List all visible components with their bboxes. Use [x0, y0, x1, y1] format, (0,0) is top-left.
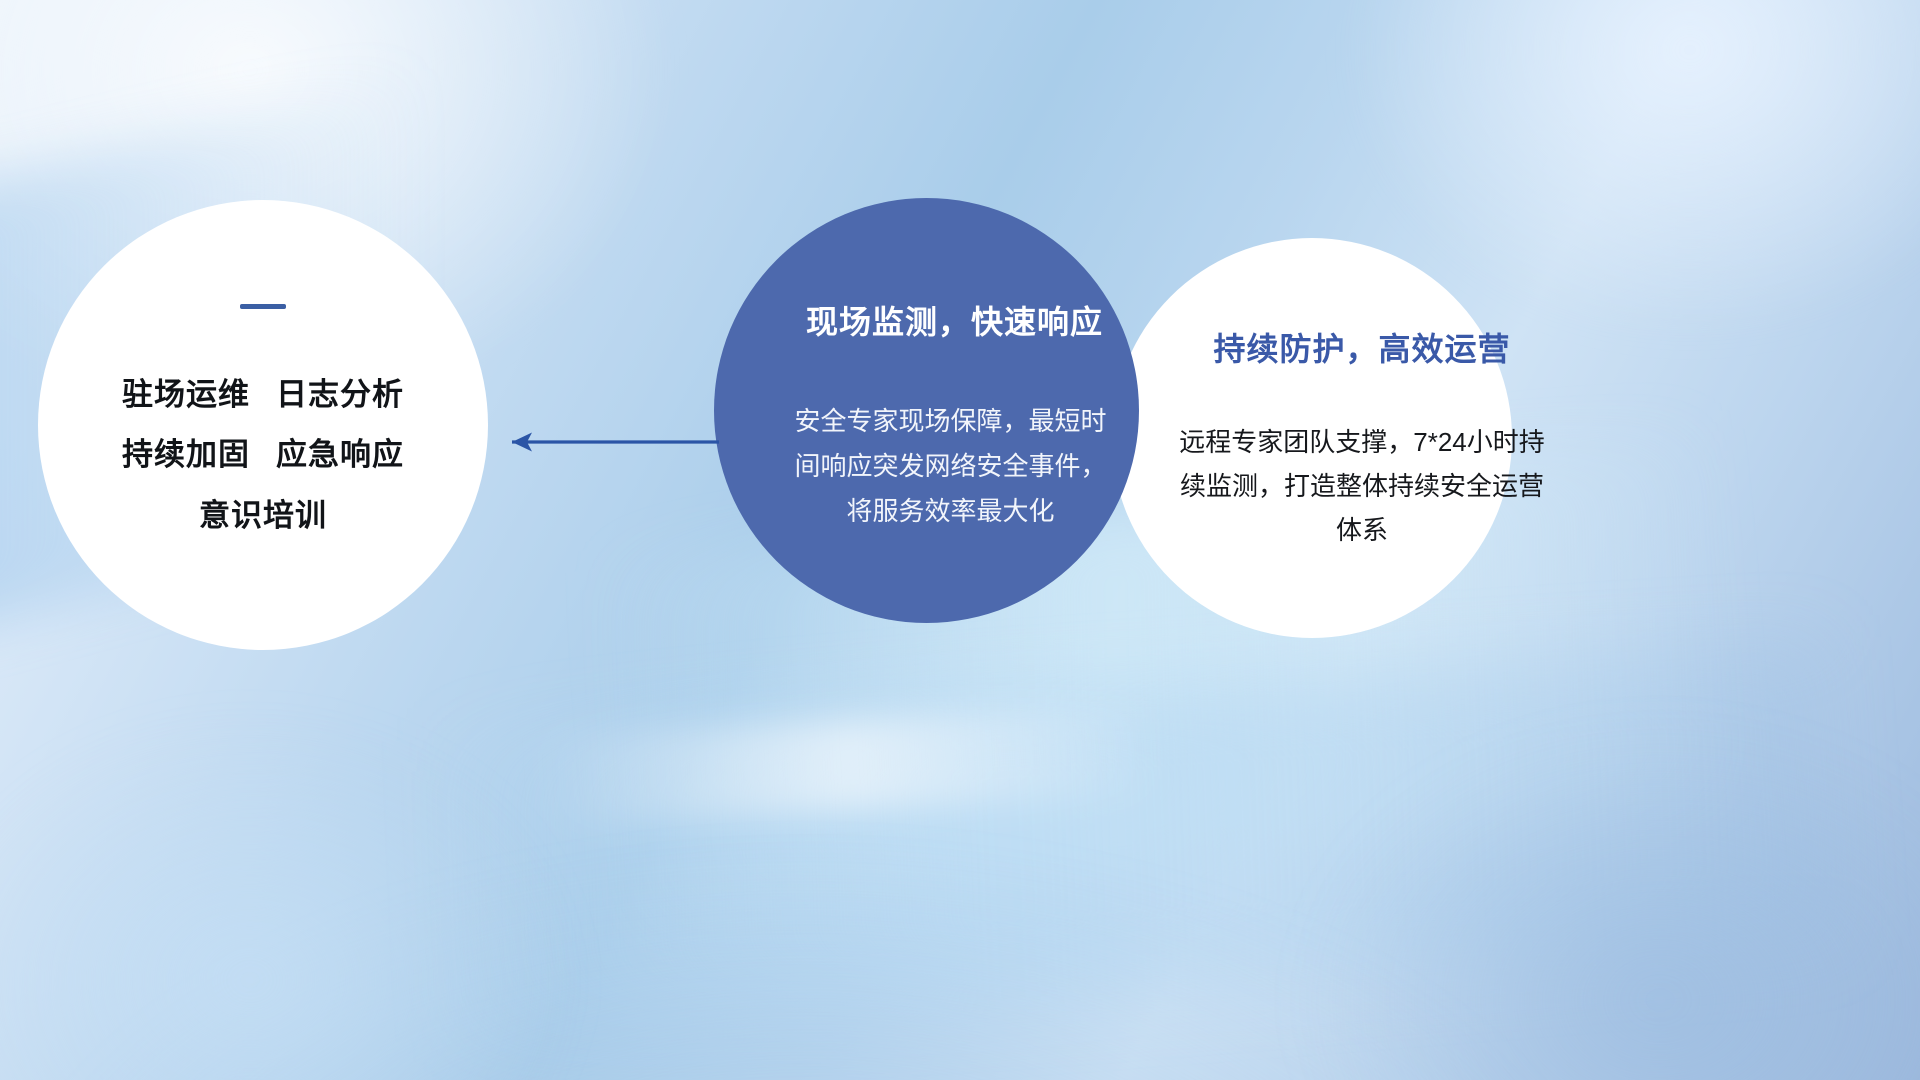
- service-keyword-row: 意识培训: [122, 486, 404, 546]
- continuous-protection-circle[interactable]: 持续防护，高效运营 远程专家团队支撑，7*24小时持续监测，打造整体持续安全运营…: [1112, 238, 1512, 638]
- driven-services-circle[interactable]: 驻场运维日志分析 持续加固应急响应 意识培训: [38, 200, 488, 650]
- service-keyword: 持续加固: [122, 437, 250, 472]
- onsite-monitoring-circle[interactable]: 现场监测，快速响应 安全专家现场保障，最短时间响应突发网络安全事件，将服务效率最…: [714, 198, 1139, 623]
- service-keyword: 意识培训: [199, 498, 327, 533]
- continuous-protection-body: 远程专家团队支撑，7*24小时持续监测，打造整体持续安全运营体系: [1176, 420, 1548, 553]
- service-keyword: 日志分析: [276, 377, 404, 412]
- service-keyword-row: 驻场运维日志分析: [122, 365, 404, 425]
- service-keyword: 应急响应: [276, 437, 404, 472]
- onsite-monitoring-body: 安全专家现场保障，最短时间响应突发网络安全事件，将服务效率最大化: [792, 399, 1110, 533]
- onsite-monitoring-title: 现场监测，快速响应: [806, 297, 1103, 343]
- continuous-protection-title: 持续防护，高效运营: [1213, 324, 1510, 370]
- service-keyword-row: 持续加固应急响应: [122, 425, 404, 485]
- service-keyword-list: 驻场运维日志分析 持续加固应急响应 意识培训: [122, 365, 404, 546]
- continuous-protection-content: 持续防护，高效运营 远程专家团队支撑，7*24小时持续监测，打造整体持续安全运营…: [1112, 238, 1512, 638]
- leftward-arrow: [490, 427, 720, 457]
- divider-dash: [240, 304, 286, 309]
- arrow-icon: [490, 427, 720, 457]
- slide-canvas: 驻场运维日志分析 持续加固应急响应 意识培训 现场监测，快速响应 安全专家现场保…: [0, 0, 1920, 1080]
- service-keyword: 驻场运维: [122, 377, 250, 412]
